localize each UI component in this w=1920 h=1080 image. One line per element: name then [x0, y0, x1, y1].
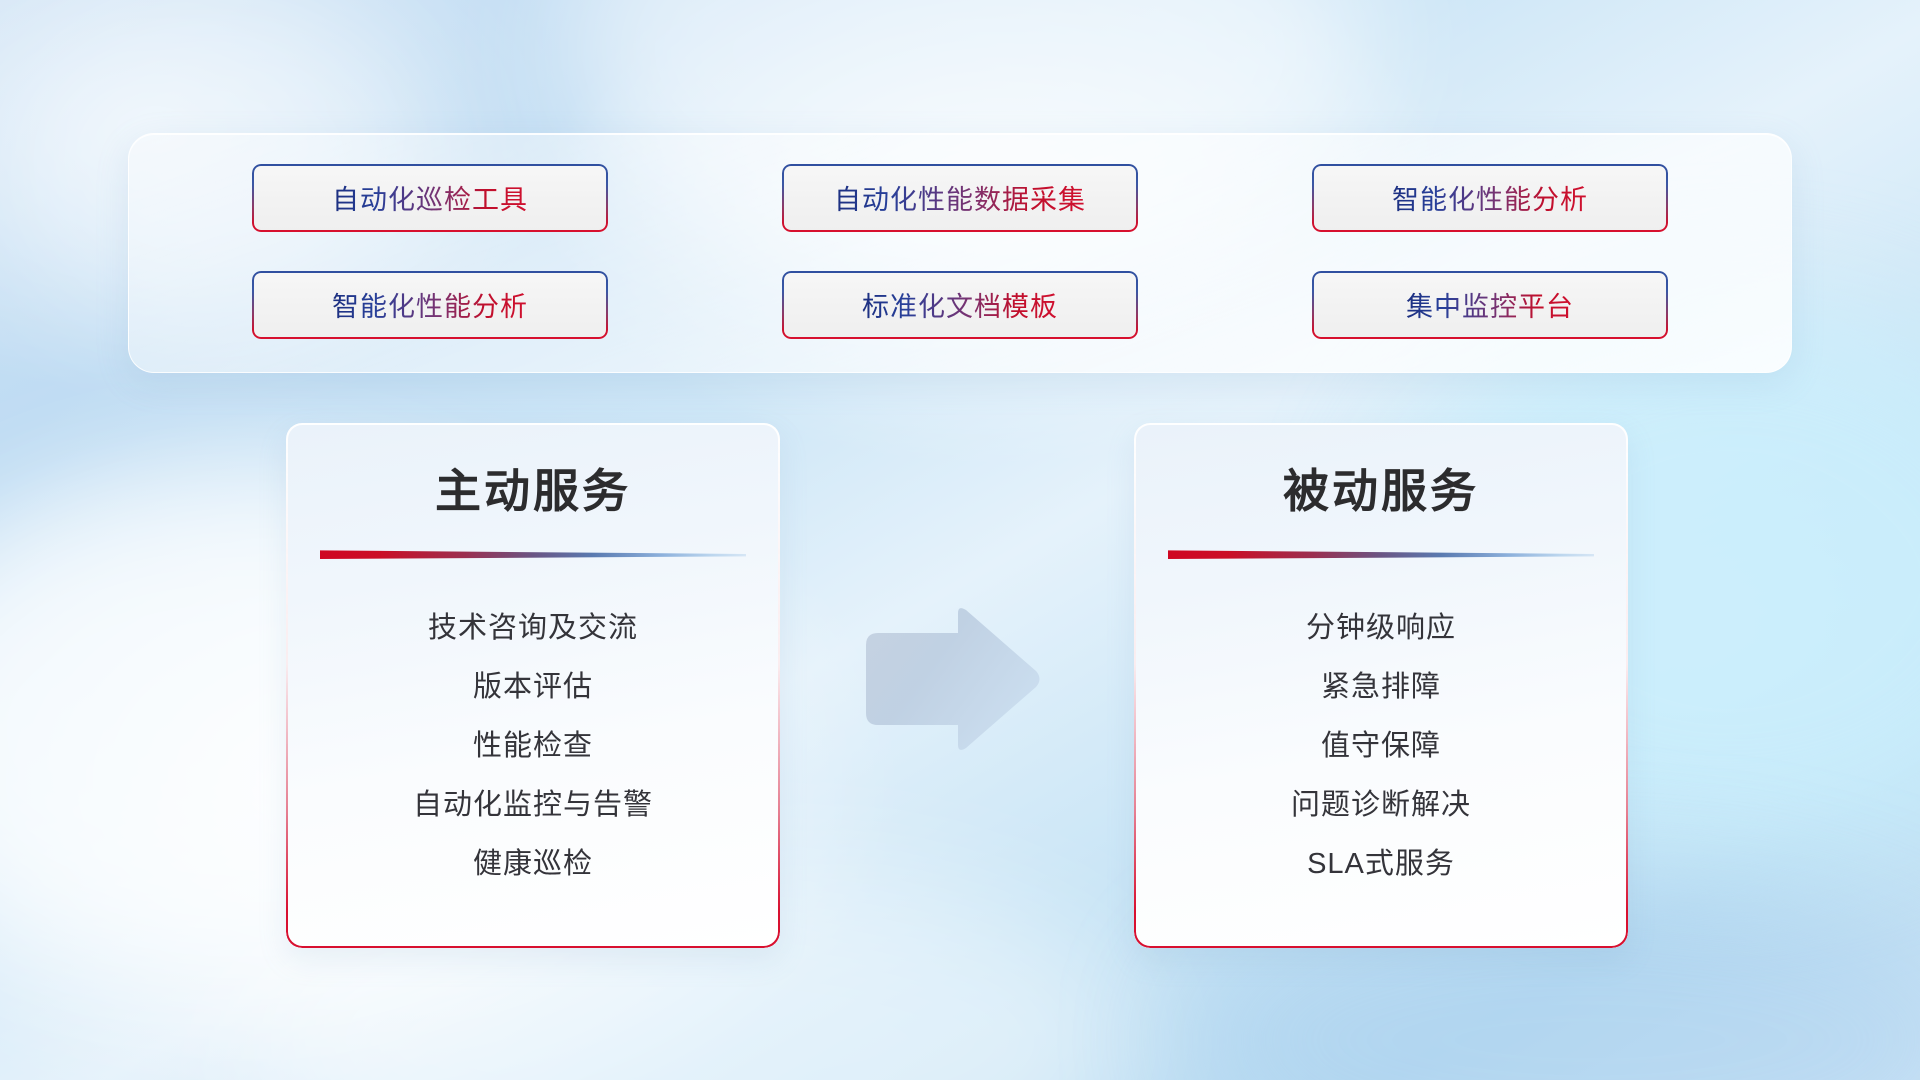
- capability-pill-label: 智能化性能分析: [1392, 178, 1588, 217]
- slide-canvas: 自动化巡检工具 自动化性能数据采集 智能化性能分析 智能化性能分析 标准化文档模…: [0, 0, 1920, 1080]
- list-item: 自动化监控与告警: [413, 776, 653, 835]
- service-item-list: 技术咨询及交流 版本评估 性能检查 自动化监控与告警 健康巡检: [286, 599, 780, 894]
- list-item: 问题诊断解决: [1291, 776, 1471, 835]
- service-card-reactive: 被动服务 分钟级响应 紧急排障 值守保障 问题诊断解决 SLA式服务: [1134, 423, 1628, 948]
- arrow-right-icon: [862, 605, 1042, 753]
- capability-pill-label: 智能化性能分析: [332, 285, 528, 324]
- list-item: 技术咨询及交流: [428, 599, 638, 658]
- card-divider: [320, 547, 746, 559]
- capability-pill[interactable]: 集中监控平台: [1312, 271, 1668, 339]
- list-item: 分钟级响应: [1306, 599, 1456, 658]
- capability-pill[interactable]: 自动化性能数据采集: [782, 164, 1138, 232]
- capability-pill-label: 集中监控平台: [1406, 285, 1574, 324]
- list-item: 值守保障: [1321, 717, 1441, 776]
- list-item: SLA式服务: [1307, 835, 1455, 894]
- service-card-proactive: 主动服务 技术咨询及交流 版本评估 性能检查 自动化监控与告警 健康巡检: [286, 423, 780, 948]
- divider-wedge: [1168, 547, 1594, 559]
- card-title: 主动服务: [286, 455, 780, 521]
- capabilities-panel: 自动化巡检工具 自动化性能数据采集 智能化性能分析 智能化性能分析 标准化文档模…: [128, 133, 1792, 373]
- capability-pill[interactable]: 智能化性能分析: [252, 271, 608, 339]
- capability-pill[interactable]: 智能化性能分析: [1312, 164, 1668, 232]
- list-item: 紧急排障: [1321, 658, 1441, 717]
- card-title: 被动服务: [1134, 455, 1628, 521]
- list-item: 健康巡检: [473, 835, 593, 894]
- list-item: 性能检查: [473, 717, 593, 776]
- card-divider: [1168, 547, 1594, 559]
- capability-pill-label: 自动化性能数据采集: [834, 178, 1086, 217]
- list-item: 版本评估: [473, 658, 593, 717]
- capability-pill-label: 自动化巡检工具: [332, 178, 528, 217]
- divider-wedge: [320, 547, 746, 559]
- capability-pill-label: 标准化文档模板: [862, 285, 1058, 324]
- capability-pill[interactable]: 标准化文档模板: [782, 271, 1138, 339]
- capability-pill[interactable]: 自动化巡检工具: [252, 164, 608, 232]
- service-item-list: 分钟级响应 紧急排障 值守保障 问题诊断解决 SLA式服务: [1134, 599, 1628, 894]
